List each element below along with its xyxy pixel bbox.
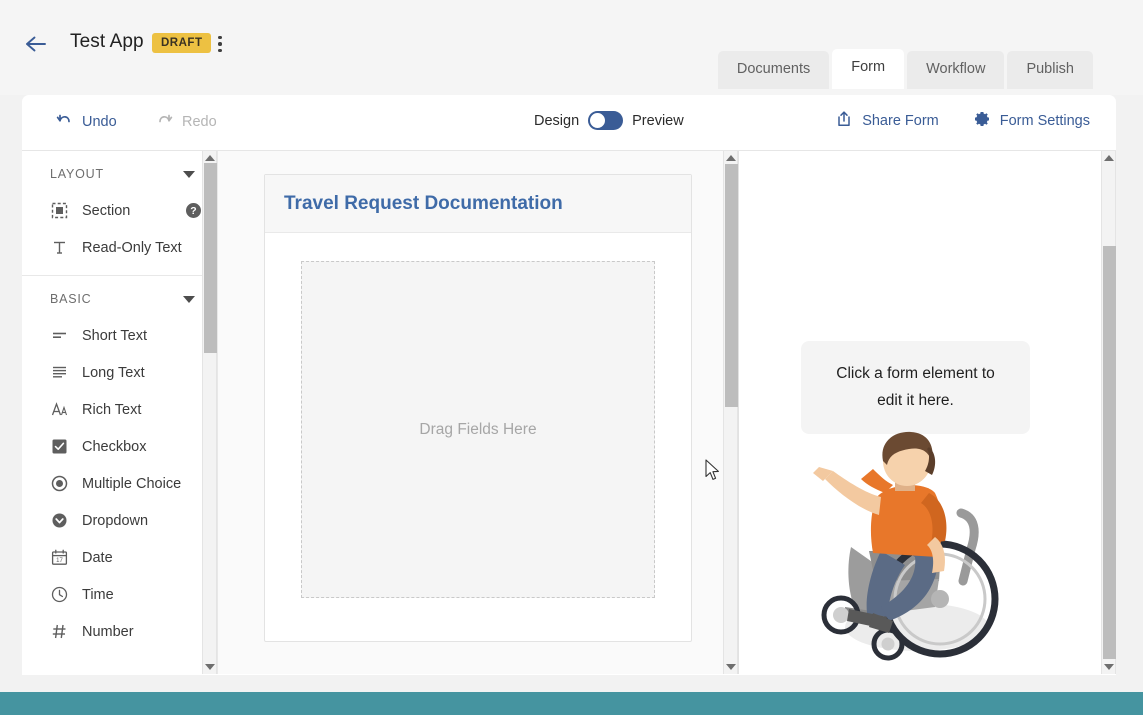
tab-documents[interactable]: Documents (718, 51, 829, 89)
radio-button-icon (50, 474, 69, 493)
inspector-hint-line2: edit it here. (817, 388, 1014, 415)
sidebar-section-title-basic: BASIC (50, 292, 92, 306)
scrollbar-thumb[interactable] (204, 163, 217, 353)
clock-icon (50, 585, 69, 604)
sidebar-item-label: Dropdown (82, 513, 148, 529)
page-bottom-gap (0, 675, 1143, 692)
checkbox-icon (50, 437, 69, 456)
help-icon[interactable]: ? (186, 203, 201, 218)
redo-button[interactable]: Redo (156, 111, 217, 132)
design-preview-toggle[interactable] (588, 111, 623, 130)
sidebar-item-section[interactable]: Section ? (22, 192, 217, 229)
canvas-scrollbar[interactable] (723, 151, 738, 674)
inspector-hint: Click a form element to edit it here. (801, 341, 1030, 434)
person-in-wheelchair-pointing-illustration (789, 431, 1039, 661)
scroll-up-arrow-icon[interactable] (726, 155, 736, 161)
design-label: Design (534, 113, 579, 129)
design-preview-toggle-group: Design Preview (534, 111, 684, 130)
inspector-scrollbar[interactable] (1101, 151, 1116, 674)
rich-text-icon (50, 400, 69, 419)
sidebar-section-header-basic[interactable]: BASIC (22, 276, 217, 317)
scroll-down-arrow-icon[interactable] (726, 664, 736, 670)
share-form-button[interactable]: Share Form (835, 110, 939, 132)
form-title: Travel Request Documentation (284, 193, 563, 215)
chevron-down-icon (183, 171, 195, 178)
sidebar-item-label: Number (82, 624, 134, 640)
sidebar-item-label: Long Text (82, 365, 145, 381)
sidebar-section-header-layout[interactable]: LAYOUT (22, 151, 217, 192)
sidebar-item-short-text[interactable]: Short Text (22, 317, 217, 354)
editor-body: LAYOUT Section ? (22, 151, 1116, 674)
scroll-up-arrow-icon[interactable] (205, 155, 215, 161)
undo-button[interactable]: Undo (56, 111, 117, 132)
footer-bar (0, 692, 1143, 715)
sidebar-item-time[interactable]: Time (22, 576, 217, 613)
share-upload-icon (835, 110, 853, 132)
sidebar-item-multiple-choice[interactable]: Multiple Choice (22, 465, 217, 502)
status-badge: DRAFT (152, 33, 211, 53)
scroll-down-arrow-icon[interactable] (1104, 664, 1114, 670)
sidebar-item-number[interactable]: Number (22, 613, 217, 650)
back-arrow-icon[interactable] (22, 30, 50, 58)
gear-icon (973, 110, 991, 132)
undo-label: Undo (82, 114, 117, 130)
svg-text:17: 17 (56, 558, 63, 564)
form-toolbar: Undo Redo Design Preview (22, 95, 1116, 151)
drop-zone-label: Drag Fields Here (419, 421, 536, 439)
scroll-up-arrow-icon[interactable] (1104, 155, 1114, 161)
form-card-header: Travel Request Documentation (265, 175, 691, 233)
sidebar-item-label: Rich Text (82, 402, 141, 418)
sidebar-item-date[interactable]: 17 Date (22, 539, 217, 576)
form-settings-button[interactable]: Form Settings (973, 110, 1090, 132)
scrollbar-thumb[interactable] (1103, 246, 1116, 659)
tab-publish[interactable]: Publish (1007, 51, 1093, 89)
sidebar-item-dropdown[interactable]: Dropdown (22, 502, 217, 539)
field-palette-sidebar: LAYOUT Section ? (22, 151, 218, 674)
text-t-icon (50, 238, 69, 257)
kebab-menu-icon[interactable] (212, 32, 228, 56)
tab-workflow[interactable]: Workflow (907, 51, 1004, 89)
scroll-down-arrow-icon[interactable] (205, 664, 215, 670)
toolbar-right-actions: Share Form Form Settings (835, 110, 1090, 132)
app-root: Test App DRAFT Documents Form Workflow P… (0, 0, 1143, 715)
redo-arrow-icon (156, 111, 173, 132)
sidebar-item-long-text[interactable]: Long Text (22, 354, 217, 391)
main-card: Undo Redo Design Preview (22, 95, 1116, 675)
undo-arrow-icon (56, 111, 73, 132)
top-header-bar: Test App DRAFT Documents Form Workflow P… (0, 0, 1143, 95)
sidebar-item-label: Time (82, 587, 114, 603)
form-preview-card[interactable]: Travel Request Documentation Drag Fields… (264, 174, 692, 642)
sidebar-item-read-only-text[interactable]: Read-Only Text (22, 229, 217, 266)
sidebar-item-checkbox[interactable]: Checkbox (22, 428, 217, 465)
sidebar-item-label: Section (82, 203, 130, 219)
sidebar-item-label: Date (82, 550, 113, 566)
long-text-icon (50, 363, 69, 382)
chevron-down-icon (183, 296, 195, 303)
redo-label: Redo (182, 114, 217, 130)
scrollbar-thumb[interactable] (725, 164, 738, 407)
share-form-label: Share Form (862, 113, 939, 129)
page-title: Test App (70, 31, 144, 53)
sidebar-item-rich-text[interactable]: Rich Text (22, 391, 217, 428)
sidebar-item-label: Multiple Choice (82, 476, 181, 492)
sidebar-item-label: Short Text (82, 328, 147, 344)
section-icon (50, 201, 69, 220)
form-settings-label: Form Settings (1000, 113, 1090, 129)
form-canvas: Travel Request Documentation Drag Fields… (218, 151, 739, 674)
chevron-down-circle-icon (50, 511, 69, 530)
sidebar-scrollbar[interactable] (202, 151, 217, 674)
short-text-icon (50, 326, 69, 345)
sidebar-item-label: Read-Only Text (82, 240, 182, 256)
sidebar-item-label: Checkbox (82, 439, 146, 455)
calendar-icon: 17 (50, 548, 69, 567)
inspector-hint-line1: Click a form element to (817, 361, 1014, 388)
preview-label: Preview (632, 113, 684, 129)
main-tabs: Documents Form Workflow Publish (718, 49, 1093, 89)
hash-number-icon (50, 622, 69, 641)
drop-zone[interactable]: Drag Fields Here (301, 261, 655, 598)
sidebar-section-title-layout: LAYOUT (50, 167, 104, 181)
inspector-panel: Click a form element to edit it here. (739, 151, 1116, 674)
tab-form[interactable]: Form (832, 49, 904, 89)
toggle-knob (590, 113, 605, 128)
